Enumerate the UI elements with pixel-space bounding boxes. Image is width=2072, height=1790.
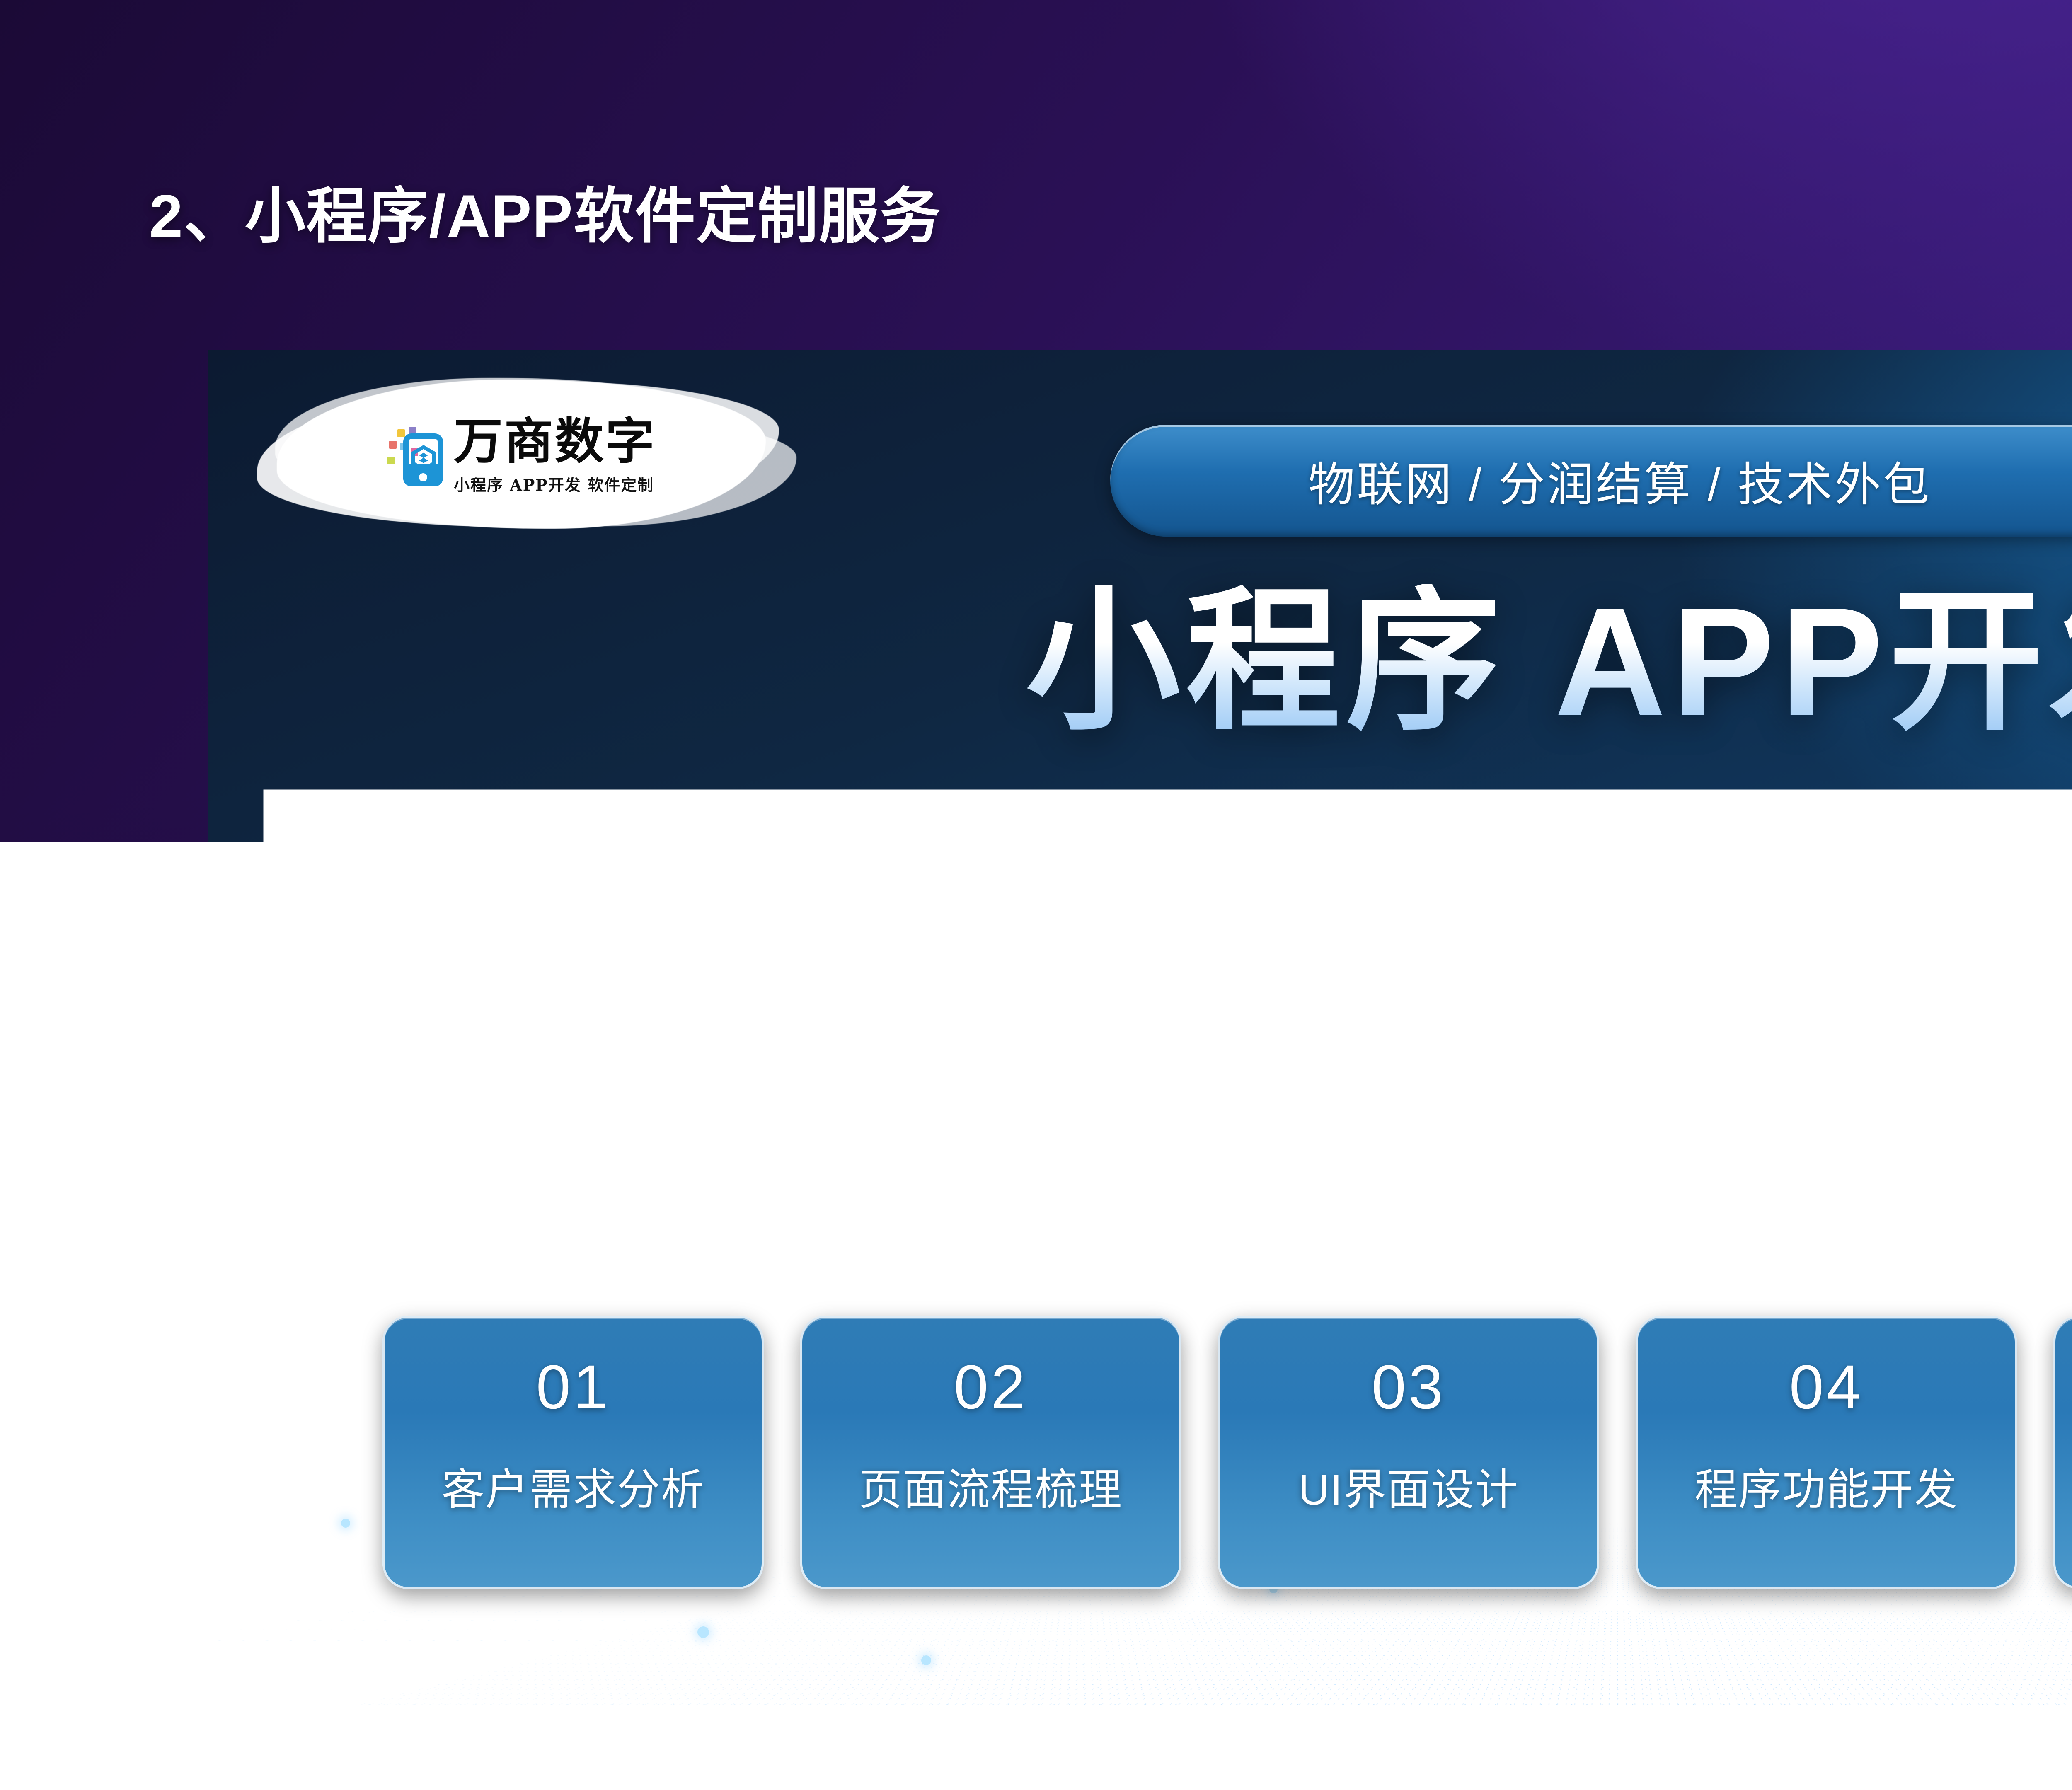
process-step-card-03[interactable]: 03 UI界面设计 bbox=[1218, 1316, 1599, 1589]
service-badge-text: 物联网 / 分润结算 / 技术外包 bbox=[1308, 447, 1932, 514]
process-step-card-04[interactable]: 04 程序功能开发 bbox=[1636, 1316, 2017, 1589]
watermark-phone-icon bbox=[387, 423, 445, 489]
watermark-hexagon-icon bbox=[410, 444, 437, 472]
process-step-card-01[interactable]: 01 客户需求分析 bbox=[382, 1316, 764, 1589]
bokeh-dot bbox=[341, 1519, 350, 1528]
process-step-card-02[interactable]: 02 页面流程梳理 bbox=[800, 1316, 1181, 1589]
banner-headline-secondary: 属于自己的私域系统 bbox=[208, 907, 2072, 1012]
banner-watermark-logo: 万商数字 小程序 APP开发 软件定制 bbox=[252, 365, 791, 547]
promo-banner: 万商数字 小程序 APP开发 软件定制 物联网 / 分润结算 / 技术外包 小程… bbox=[208, 350, 2072, 1705]
step-label: UI界面设计 bbox=[1298, 1454, 1519, 1517]
page-title: 2、小程序/APP软件定制服务 bbox=[149, 167, 942, 255]
bokeh-dot bbox=[921, 1655, 931, 1665]
banner-subline: 专业定制团队 一站式服务 bbox=[208, 1133, 2072, 1198]
watermark-tagline: 小程序 APP开发 软件定制 bbox=[454, 472, 656, 495]
step-number: 01 bbox=[536, 1356, 610, 1418]
service-badge: 物联网 / 分润结算 / 技术外包 bbox=[1110, 425, 2072, 537]
step-label: 页面流程梳理 bbox=[859, 1454, 1123, 1517]
bokeh-dot bbox=[697, 1626, 709, 1638]
step-label: 客户需求分析 bbox=[441, 1454, 705, 1517]
watermark-name: 万商数字 bbox=[454, 417, 656, 466]
process-step-card-05[interactable]: 05 项目审核发布 bbox=[2053, 1316, 2072, 1589]
banner-headline-primary: 小程序 APP开发 bbox=[208, 584, 2072, 738]
step-number: 02 bbox=[954, 1356, 1028, 1418]
step-number: 03 bbox=[1372, 1356, 1446, 1418]
step-number: 04 bbox=[1789, 1356, 1864, 1418]
step-label: 程序功能开发 bbox=[1694, 1454, 1958, 1517]
process-step-list: 01 客户需求分析 02 页面流程梳理 03 UI界面设计 04 程序功能开发 … bbox=[382, 1316, 2072, 1593]
